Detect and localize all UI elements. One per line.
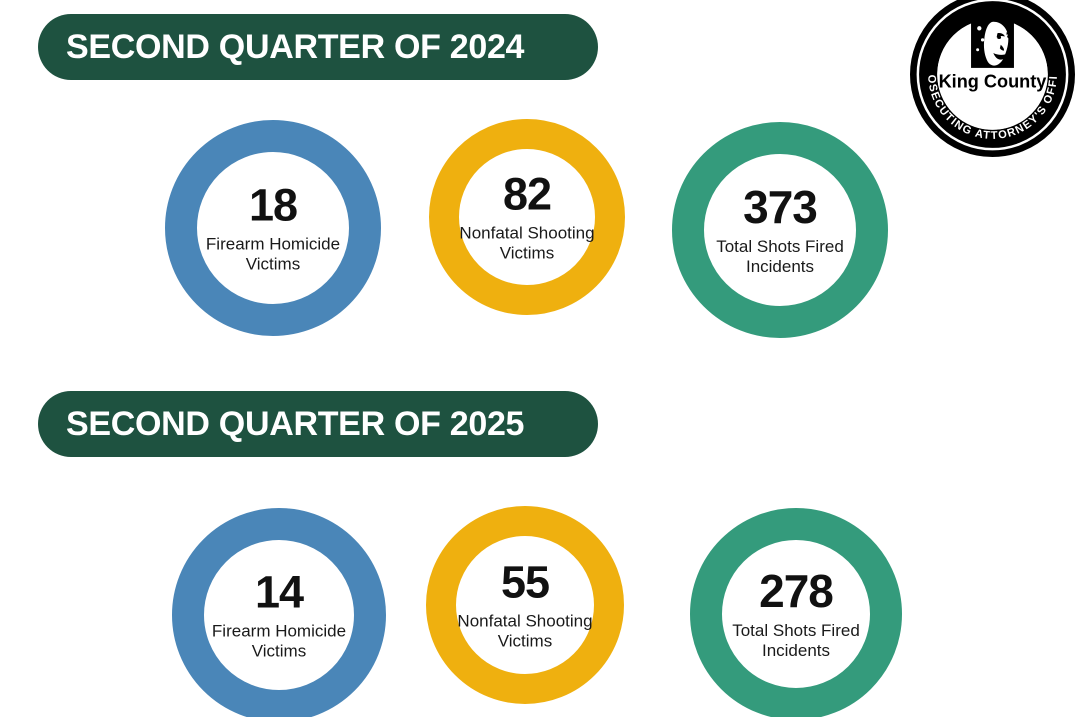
stat-value: 14 <box>255 569 303 614</box>
stat-label: Total Shots Fired Incidents <box>732 621 860 660</box>
stat-label-line2: Victims <box>500 243 554 262</box>
section-heading-label: SECOND QUARTER OF 2025 <box>66 407 524 441</box>
stat-value: 278 <box>759 568 833 614</box>
section-header-2025: SECOND QUARTER OF 2025 <box>38 391 598 457</box>
stat-value: 373 <box>743 184 817 230</box>
stat-donut-2025-total-shots-fired: 278 Total Shots Fired Incidents <box>690 508 902 717</box>
stat-content: 82 Nonfatal Shooting Victims <box>425 171 629 262</box>
stat-value: 82 <box>503 171 551 216</box>
stat-content: 373 Total Shots Fired Incidents <box>666 184 894 276</box>
stat-label-line2: Incidents <box>746 257 814 276</box>
portrait-glyph <box>971 17 1014 68</box>
stat-content: 278 Total Shots Fired Incidents <box>685 568 907 660</box>
stat-label-line1: Nonfatal Shooting <box>459 223 594 242</box>
stat-label-line2: Incidents <box>762 641 830 660</box>
stat-label: Firearm Homicide Victims <box>212 621 346 660</box>
stat-label: Firearm Homicide Victims <box>206 234 340 273</box>
section-heading-label: SECOND QUARTER OF 2024 <box>66 30 524 64</box>
stat-label-line2: Victims <box>252 641 306 660</box>
stat-content: 55 Nonfatal Shooting Victims <box>422 559 629 650</box>
stat-label-line2: Victims <box>498 631 552 650</box>
infographic-canvas: SECOND QUARTER OF 2024 18 Firearm Homici… <box>0 0 1080 717</box>
stat-label-line1: Total Shots Fired <box>732 621 860 640</box>
king-county-prosecuting-attorney-logo: King County PROSECUTING ATTORNEY'S OFFIC… <box>910 0 1075 157</box>
stat-value: 18 <box>249 182 297 227</box>
stat-label: Nonfatal Shooting Victims <box>459 223 594 262</box>
stat-content: 18 Firearm Homicide Victims <box>159 182 387 273</box>
section-header-2024: SECOND QUARTER OF 2024 <box>38 14 598 80</box>
logo-wordmark: King County <box>939 72 1047 92</box>
stat-label-line1: Nonfatal Shooting <box>457 611 592 630</box>
stat-donut-2024-nonfatal-shooting: 82 Nonfatal Shooting Victims <box>429 119 625 315</box>
seal-icon: King County PROSECUTING ATTORNEY'S OFFIC… <box>910 0 1075 157</box>
stat-label: Nonfatal Shooting Victims <box>457 611 592 650</box>
stat-donut-2025-nonfatal-shooting: 55 Nonfatal Shooting Victims <box>426 506 624 704</box>
stat-label-line1: Firearm Homicide <box>206 234 340 253</box>
stat-label-line1: Firearm Homicide <box>212 621 346 640</box>
stat-donut-2025-firearm-homicide: 14 Firearm Homicide Victims <box>172 508 386 717</box>
stat-donut-2024-total-shots-fired: 373 Total Shots Fired Incidents <box>672 122 888 338</box>
stat-content: 14 Firearm Homicide Victims <box>167 569 392 660</box>
stat-label-line1: Total Shots Fired <box>716 237 844 256</box>
stat-donut-2024-firearm-homicide: 18 Firearm Homicide Victims <box>165 120 381 336</box>
stat-value: 55 <box>501 559 549 604</box>
stat-label: Total Shots Fired Incidents <box>716 237 844 276</box>
stat-label-line2: Victims <box>246 254 300 273</box>
